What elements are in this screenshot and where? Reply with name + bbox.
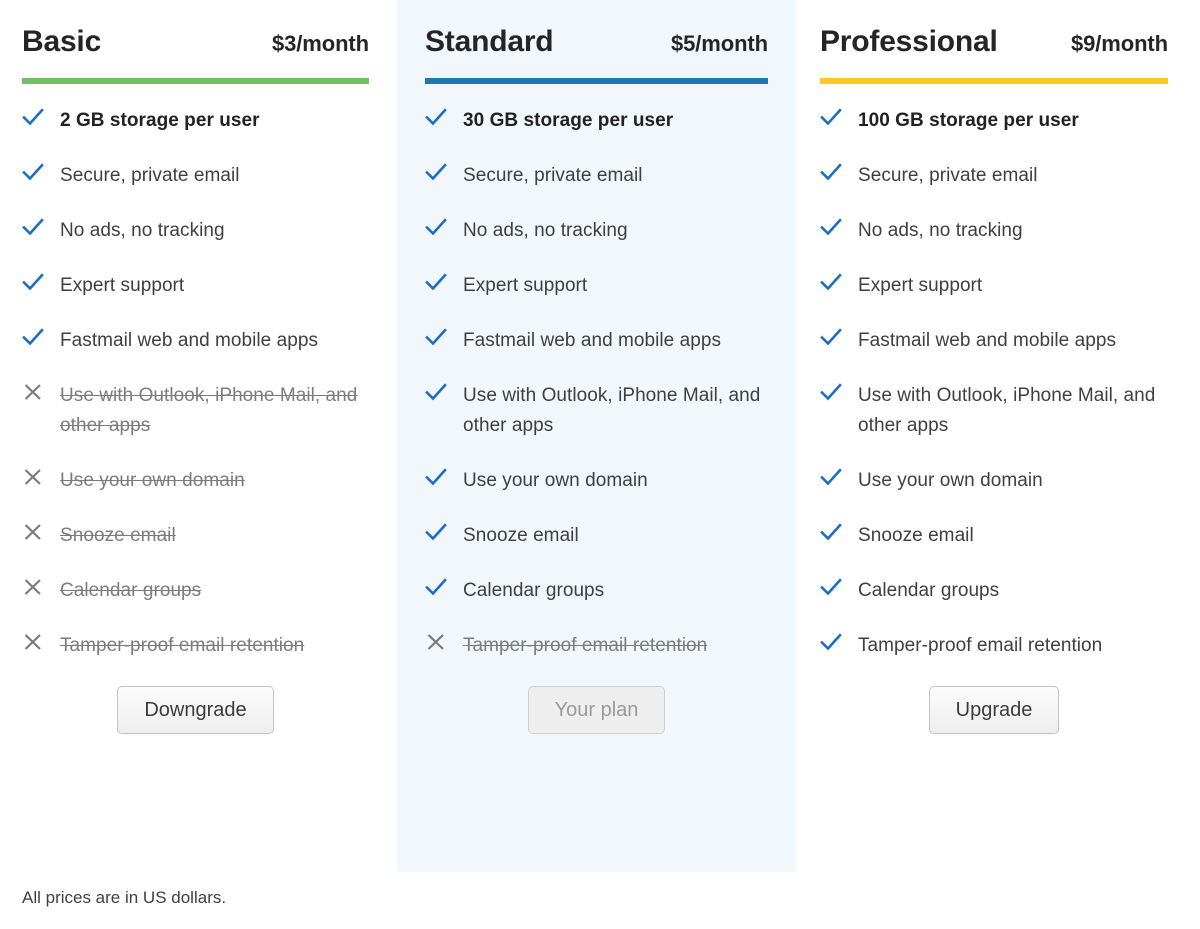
feature-label: Calendar groups bbox=[858, 576, 999, 606]
pricing-plans: Basic $3/month 2 GB storage per userSecu… bbox=[0, 0, 1200, 872]
plan-action-button-professional[interactable]: Upgrade bbox=[929, 686, 1060, 734]
feature-included: 2 GB storage per user bbox=[22, 106, 369, 136]
check-icon bbox=[425, 576, 447, 597]
feature-included: Use with Outlook, iPhone Mail, and other… bbox=[820, 381, 1168, 441]
feature-excluded: Tamper-proof email retention bbox=[22, 631, 369, 661]
feature-included: Secure, private email bbox=[22, 161, 369, 191]
plan-action-button-basic[interactable]: Downgrade bbox=[117, 686, 273, 734]
prices-footnote: All prices are in US dollars. bbox=[22, 888, 226, 908]
feature-excluded: Calendar groups bbox=[22, 576, 369, 606]
plan-action: Your plan bbox=[425, 686, 768, 764]
feature-label: Secure, private email bbox=[60, 161, 240, 191]
feature-included: Secure, private email bbox=[820, 161, 1168, 191]
feature-list: 30 GB storage per userSecure, private em… bbox=[425, 106, 768, 661]
feature-label: Use with Outlook, iPhone Mail, and other… bbox=[60, 381, 369, 441]
cross-icon bbox=[22, 576, 44, 597]
feature-included: Snooze email bbox=[425, 521, 768, 551]
check-icon bbox=[820, 271, 842, 292]
cross-icon bbox=[22, 381, 44, 402]
feature-label: 30 GB storage per user bbox=[463, 106, 673, 136]
feature-included: Use with Outlook, iPhone Mail, and other… bbox=[425, 381, 768, 441]
check-icon bbox=[22, 326, 44, 347]
check-icon bbox=[425, 381, 447, 402]
check-icon bbox=[425, 161, 447, 182]
plan-header: Standard $5/month bbox=[425, 0, 768, 60]
feature-included: Fastmail web and mobile apps bbox=[820, 326, 1168, 356]
feature-excluded: Snooze email bbox=[22, 521, 369, 551]
feature-included: Secure, private email bbox=[425, 161, 768, 191]
check-icon bbox=[425, 326, 447, 347]
feature-label: Use your own domain bbox=[463, 466, 648, 496]
plan-name-basic: Basic bbox=[22, 24, 101, 60]
plan-price-standard: $5/month bbox=[671, 31, 768, 57]
cross-icon bbox=[22, 521, 44, 542]
cross-icon bbox=[22, 466, 44, 487]
feature-included: 100 GB storage per user bbox=[820, 106, 1168, 136]
cross-icon bbox=[425, 631, 447, 652]
check-icon bbox=[820, 381, 842, 402]
plan-price-professional: $9/month bbox=[1071, 31, 1168, 57]
feature-included: Fastmail web and mobile apps bbox=[425, 326, 768, 356]
check-icon bbox=[425, 466, 447, 487]
plan-name-standard: Standard bbox=[425, 24, 553, 60]
feature-label: Expert support bbox=[463, 271, 587, 301]
plan-accent-bar-professional bbox=[820, 78, 1168, 84]
feature-label: Fastmail web and mobile apps bbox=[60, 326, 318, 356]
feature-label: Secure, private email bbox=[858, 161, 1038, 191]
feature-included: Fastmail web and mobile apps bbox=[22, 326, 369, 356]
feature-included: Calendar groups bbox=[820, 576, 1168, 606]
feature-included: Tamper-proof email retention bbox=[820, 631, 1168, 661]
plan-header: Basic $3/month bbox=[22, 0, 369, 60]
feature-included: No ads, no tracking bbox=[820, 216, 1168, 246]
feature-label: Fastmail web and mobile apps bbox=[858, 326, 1116, 356]
check-icon bbox=[820, 216, 842, 237]
feature-label: Use your own domain bbox=[858, 466, 1043, 496]
plan-action-button-standard[interactable]: Your plan bbox=[528, 686, 666, 734]
feature-label: Snooze email bbox=[858, 521, 974, 551]
check-icon bbox=[820, 106, 842, 127]
plan-header: Professional $9/month bbox=[820, 0, 1168, 60]
feature-excluded: Use with Outlook, iPhone Mail, and other… bbox=[22, 381, 369, 441]
feature-label: Fastmail web and mobile apps bbox=[463, 326, 721, 356]
feature-label: Calendar groups bbox=[60, 576, 201, 606]
feature-label: 100 GB storage per user bbox=[858, 106, 1079, 136]
check-icon bbox=[820, 161, 842, 182]
check-icon bbox=[22, 216, 44, 237]
plan-action: Downgrade bbox=[22, 686, 369, 764]
feature-label: Expert support bbox=[60, 271, 184, 301]
feature-included: No ads, no tracking bbox=[22, 216, 369, 246]
feature-list: 2 GB storage per userSecure, private ema… bbox=[22, 106, 369, 661]
feature-list: 100 GB storage per userSecure, private e… bbox=[820, 106, 1168, 661]
feature-included: Expert support bbox=[820, 271, 1168, 301]
feature-label: Secure, private email bbox=[463, 161, 643, 191]
feature-excluded: Use your own domain bbox=[22, 466, 369, 496]
feature-label: Use with Outlook, iPhone Mail, and other… bbox=[463, 381, 768, 441]
feature-included: 30 GB storage per user bbox=[425, 106, 768, 136]
check-icon bbox=[22, 271, 44, 292]
feature-label: Snooze email bbox=[60, 521, 176, 551]
feature-label: Use with Outlook, iPhone Mail, and other… bbox=[858, 381, 1168, 441]
plan-card-standard: Standard $5/month 30 GB storage per user… bbox=[397, 0, 796, 872]
plan-card-professional: Professional $9/month 100 GB storage per… bbox=[796, 0, 1200, 764]
check-icon bbox=[820, 631, 842, 652]
feature-label: Tamper-proof email retention bbox=[463, 631, 707, 661]
feature-label: Expert support bbox=[858, 271, 982, 301]
check-icon bbox=[22, 161, 44, 182]
feature-label: Calendar groups bbox=[463, 576, 604, 606]
plan-accent-bar-standard bbox=[425, 78, 768, 84]
check-icon bbox=[425, 271, 447, 292]
feature-included: Calendar groups bbox=[425, 576, 768, 606]
check-icon bbox=[425, 216, 447, 237]
plan-name-professional: Professional bbox=[820, 24, 998, 60]
feature-included: Use your own domain bbox=[820, 466, 1168, 496]
feature-label: 2 GB storage per user bbox=[60, 106, 260, 136]
check-icon bbox=[425, 106, 447, 127]
plan-accent-bar-basic bbox=[22, 78, 369, 84]
check-icon bbox=[820, 576, 842, 597]
plan-card-basic: Basic $3/month 2 GB storage per userSecu… bbox=[0, 0, 397, 764]
plan-action: Upgrade bbox=[820, 686, 1168, 764]
plan-price-basic: $3/month bbox=[272, 31, 369, 57]
feature-excluded: Tamper-proof email retention bbox=[425, 631, 768, 661]
feature-included: Use your own domain bbox=[425, 466, 768, 496]
check-icon bbox=[820, 326, 842, 347]
feature-included: Expert support bbox=[425, 271, 768, 301]
check-icon bbox=[820, 466, 842, 487]
check-icon bbox=[820, 521, 842, 542]
check-icon bbox=[425, 521, 447, 542]
feature-label: Use your own domain bbox=[60, 466, 245, 496]
feature-label: No ads, no tracking bbox=[858, 216, 1023, 246]
feature-included: No ads, no tracking bbox=[425, 216, 768, 246]
cross-icon bbox=[22, 631, 44, 652]
feature-label: No ads, no tracking bbox=[463, 216, 628, 246]
feature-included: Snooze email bbox=[820, 521, 1168, 551]
feature-included: Expert support bbox=[22, 271, 369, 301]
feature-label: No ads, no tracking bbox=[60, 216, 225, 246]
check-icon bbox=[22, 106, 44, 127]
feature-label: Snooze email bbox=[463, 521, 579, 551]
feature-label: Tamper-proof email retention bbox=[858, 631, 1102, 661]
feature-label: Tamper-proof email retention bbox=[60, 631, 304, 661]
